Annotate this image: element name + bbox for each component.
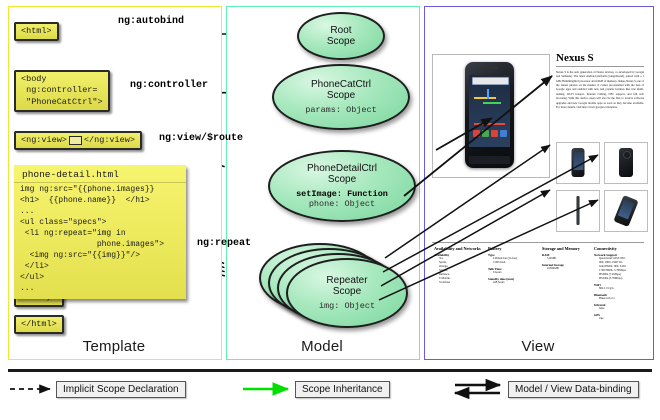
spec-value: Quad-band GSM: 850,900, 1800, 1900 Tri-b… — [594, 257, 644, 281]
legend-divider — [8, 369, 652, 372]
note-title: phone-detail.html — [14, 165, 186, 182]
view-title-rule — [556, 66, 644, 67]
spec-value: 802.11 b/g/n — [594, 287, 644, 291]
phone-hero-image[interactable] — [432, 54, 550, 178]
phone-device-render — [465, 62, 514, 168]
scope-phonecatctrl[interactable]: PhoneCatCtrlScope params: Object — [272, 64, 410, 130]
ngview-tag-box[interactable]: <ng:view> </ng:view> — [14, 131, 142, 150]
ngview-placeholder-icon — [69, 136, 82, 145]
panel-label-template: Template — [8, 338, 220, 355]
spec-value: 3G,Sprint,Orange,Singtel,Reliance,T-Mobi… — [434, 257, 482, 284]
spec-heading: Connectivity — [594, 246, 644, 251]
spec-heading: Storage and Memory — [542, 246, 590, 251]
scope-phonedetailctrl-name: PhoneDetailCtrlScope — [307, 163, 377, 185]
scope-phonecatctrl-props: params: Object — [305, 105, 376, 115]
spec-value: Bluetooth 2.1 — [594, 297, 644, 301]
scope-phonecatctrl-name: PhoneCatCtrlScope — [311, 79, 371, 101]
legend-item-implicit-scope: Implicit Scope Declaration — [56, 381, 186, 398]
legend-item-data-binding: Model / View Data-binding — [508, 381, 639, 398]
scope-phonedetailctrl-props: setImage: Functionphone: Object — [296, 189, 388, 209]
scope-root-name: RootScope — [327, 25, 355, 47]
panel-label-model: Model — [226, 338, 418, 355]
scope-repeater-props: img: Object — [319, 301, 375, 311]
diagram-canvas: <html> <body ng:controller= "PhoneCatCtr… — [0, 0, 660, 420]
phone-detail-note[interactable]: phone-detail.html img ng:src="{{phone.im… — [14, 165, 186, 299]
legend-item-scope-inheritance: Scope Inheritance — [295, 381, 390, 398]
ngview-open-tag: <ng:view> — [21, 135, 67, 146]
edge-label-controller: ng:controller — [130, 80, 208, 91]
scope-phonedetailctrl[interactable]: PhoneDetailCtrlScope setImage: Functionp… — [268, 150, 416, 222]
spec-value: 512MB — [542, 257, 590, 261]
spec-value: Lithium Ion (Li-Ion)1500 mAh — [488, 257, 536, 265]
thumbnail-grid — [556, 142, 646, 232]
scope-repeater[interactable]: RepeaterScope img: Object — [286, 258, 408, 328]
scope-repeater-name: RepeaterScope — [326, 275, 367, 297]
html-close-tag-box[interactable]: </html> — [14, 315, 64, 334]
edge-label-route: ng:view/$route — [159, 133, 243, 144]
spec-value: 16384MB — [542, 267, 590, 271]
spec-value: true — [594, 317, 644, 321]
spec-value: 428 hours — [488, 281, 536, 285]
thumbnail-phone-back[interactable] — [604, 142, 648, 184]
thumbnail-phone-angled[interactable] — [604, 190, 648, 232]
thumbnail-phone-front[interactable] — [556, 142, 600, 184]
spec-heading: Battery — [488, 246, 536, 251]
spec-heading: Availability and Networks — [434, 246, 482, 251]
edge-label-repeat: ng:repeat — [197, 238, 251, 249]
view-product-description: Nexus S is the next generation of Nexus … — [556, 70, 644, 109]
panel-label-view: View — [424, 338, 652, 355]
specs-column-availability: Availability and NetworksAvailability3G,… — [434, 246, 482, 285]
note-code: img ng:src="{{phone.images}} <h1> {{phon… — [14, 182, 186, 299]
body-tag-box[interactable]: <body ng:controller= "PhoneCatCtrl"> — [14, 70, 110, 112]
specs-column-connectivity: ConnectivityNetwork SupportQuad-band GSM… — [594, 246, 644, 320]
edge-label-autobind: ng:autobind — [118, 16, 184, 27]
spec-value: 6 hours — [488, 271, 536, 275]
thumbnail-phone-side[interactable] — [556, 190, 600, 232]
specs-table: Availability and NetworksAvailability3G,… — [432, 242, 644, 329]
specs-column-battery: BatteryTypeLithium Ion (Li-Ion)1500 mAhT… — [488, 246, 536, 285]
html-tag-box[interactable]: <html> — [14, 22, 59, 41]
spec-value: false — [594, 307, 644, 311]
ngview-close-tag: </ng:view> — [84, 135, 135, 146]
view-product-title: Nexus S — [556, 52, 594, 64]
view-page: Nexus S Nexus S is the next generation o… — [432, 14, 644, 334]
specs-column-storage: Storage and MemoryRAM512MBInternal Stora… — [542, 246, 590, 271]
scope-root[interactable]: RootScope — [297, 12, 385, 60]
